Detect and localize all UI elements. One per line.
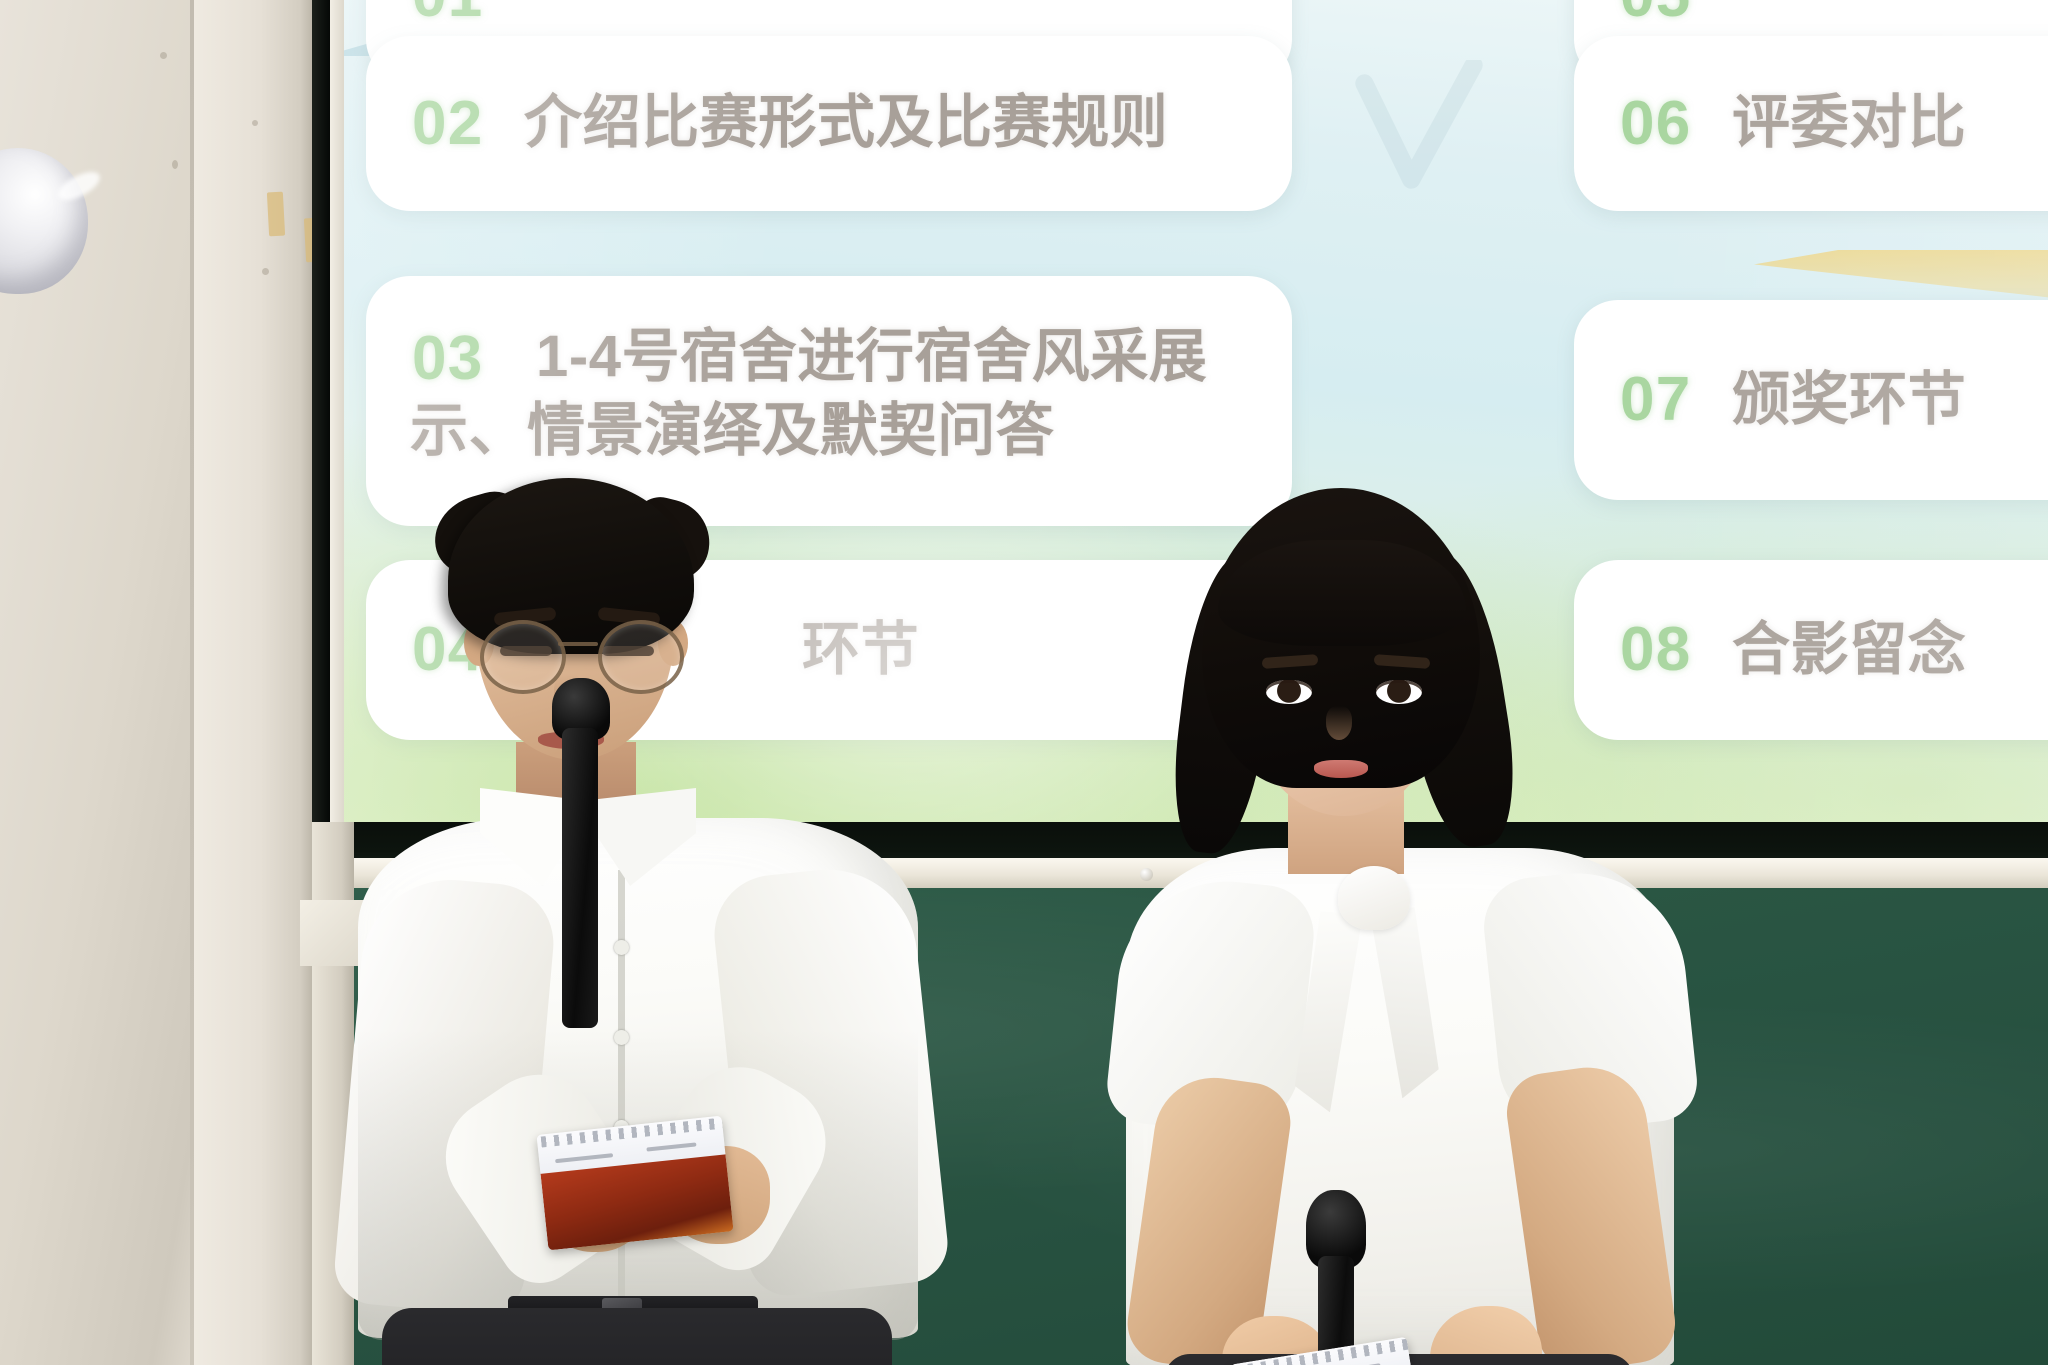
agenda-number: 05: [1620, 0, 1732, 27]
agenda-text-line2: 示、情景演绎及默契问答: [410, 394, 1207, 468]
female-host-mouth: [1314, 760, 1368, 778]
glasses-lens-right: [598, 620, 684, 694]
male-host-notebook: [536, 1116, 733, 1251]
female-host: [1090, 488, 1710, 1365]
male-host-microphone-body: [562, 728, 598, 1028]
agenda-number: 01: [412, 0, 524, 27]
agenda-text: 合影留念: [1732, 613, 1966, 687]
female-host-eye: [1376, 680, 1422, 704]
wall-scuff: [172, 160, 178, 169]
agenda-number: 06: [1620, 93, 1732, 155]
agenda-text: 1-4号宿舍进行宿舍风采展 示、情景演绎及默契问答: [536, 320, 1207, 468]
photo-scene: 01 02 介绍比赛形式及比赛规则 03 1-4号宿舍进行宿舍风采展 示、情景演…: [0, 0, 2048, 1365]
female-host-eye: [1266, 680, 1312, 704]
agenda-number: 02: [412, 93, 524, 155]
wall-scuff: [252, 120, 258, 126]
agenda-card-02: 02 介绍比赛形式及比赛规则: [366, 36, 1292, 211]
female-host-bangs: [1218, 540, 1466, 646]
glasses-bridge: [558, 642, 598, 646]
agenda-text-line1: 1-4号宿舍进行宿舍风采展: [536, 324, 1207, 389]
glasses-lens-left: [480, 620, 566, 694]
agenda-number: 07: [1620, 369, 1732, 431]
male-host-trousers: [382, 1308, 892, 1365]
shirt-button: [614, 1030, 629, 1045]
female-host-nose: [1326, 706, 1352, 740]
wall-scuff: [262, 268, 269, 275]
notebook-print-line: [646, 1142, 696, 1151]
male-host: [330, 470, 950, 1365]
agenda-number: 03: [412, 328, 524, 390]
female-host-bow-knot: [1338, 866, 1410, 930]
agenda-card-07: 07 颁奖环节: [1574, 300, 2048, 500]
agenda-text: 评委对比: [1732, 86, 1966, 160]
tape-strip: [267, 192, 285, 237]
agenda-text: 介绍比赛形式及比赛规则: [524, 86, 1168, 160]
shirt-button: [614, 940, 629, 955]
check-watermark-icon: [1354, 60, 1484, 190]
agenda-text: 颁奖环节: [1732, 363, 1966, 437]
wall-scuff: [160, 52, 167, 59]
notebook-print-line: [555, 1153, 613, 1163]
wall-pillar: [194, 0, 314, 1365]
agenda-card-06: 06 评委对比: [1574, 36, 2048, 211]
